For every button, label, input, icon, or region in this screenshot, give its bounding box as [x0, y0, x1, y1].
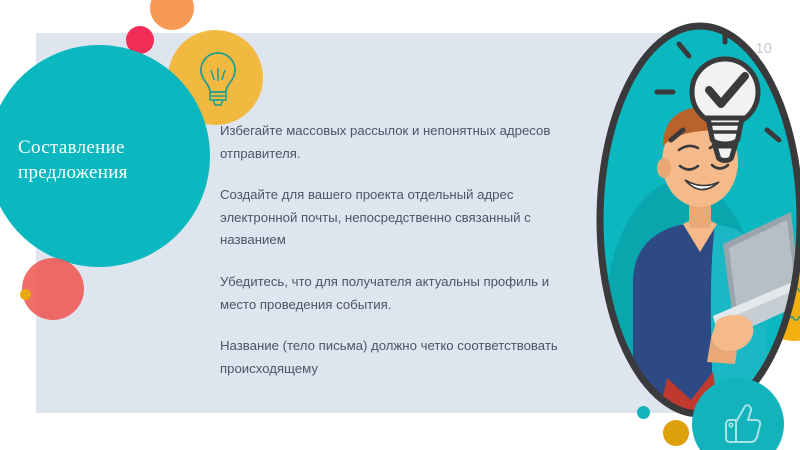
paragraph-1: Избегайте массовых рассылок и непонятных…	[220, 120, 570, 165]
decorative-dot-teal-bottom	[637, 406, 650, 419]
decorative-circle-gold-bottom	[663, 420, 689, 446]
thumbs-up-outline-icon	[714, 398, 764, 448]
decorative-circle-red-bottom-left	[22, 258, 84, 320]
decorative-circle-orange-top	[150, 0, 194, 30]
paragraph-4: Название (тело письма) должно четко соот…	[220, 335, 570, 380]
person-with-laptop-illustration	[595, 20, 800, 420]
decorative-dot-gold-left	[20, 289, 31, 300]
body-text-block: Избегайте массовых рассылок и непонятных…	[220, 120, 570, 380]
page-title: Составление предложения	[18, 135, 208, 185]
paragraph-2: Создайте для вашего проекта отдельный ад…	[220, 184, 570, 252]
slide-canvas: Составление предложения Избегайте массов…	[0, 0, 800, 450]
paragraph-3: Убедитесь, что для получателя актуальны …	[220, 271, 570, 316]
lightbulb-outline-icon	[196, 50, 240, 108]
